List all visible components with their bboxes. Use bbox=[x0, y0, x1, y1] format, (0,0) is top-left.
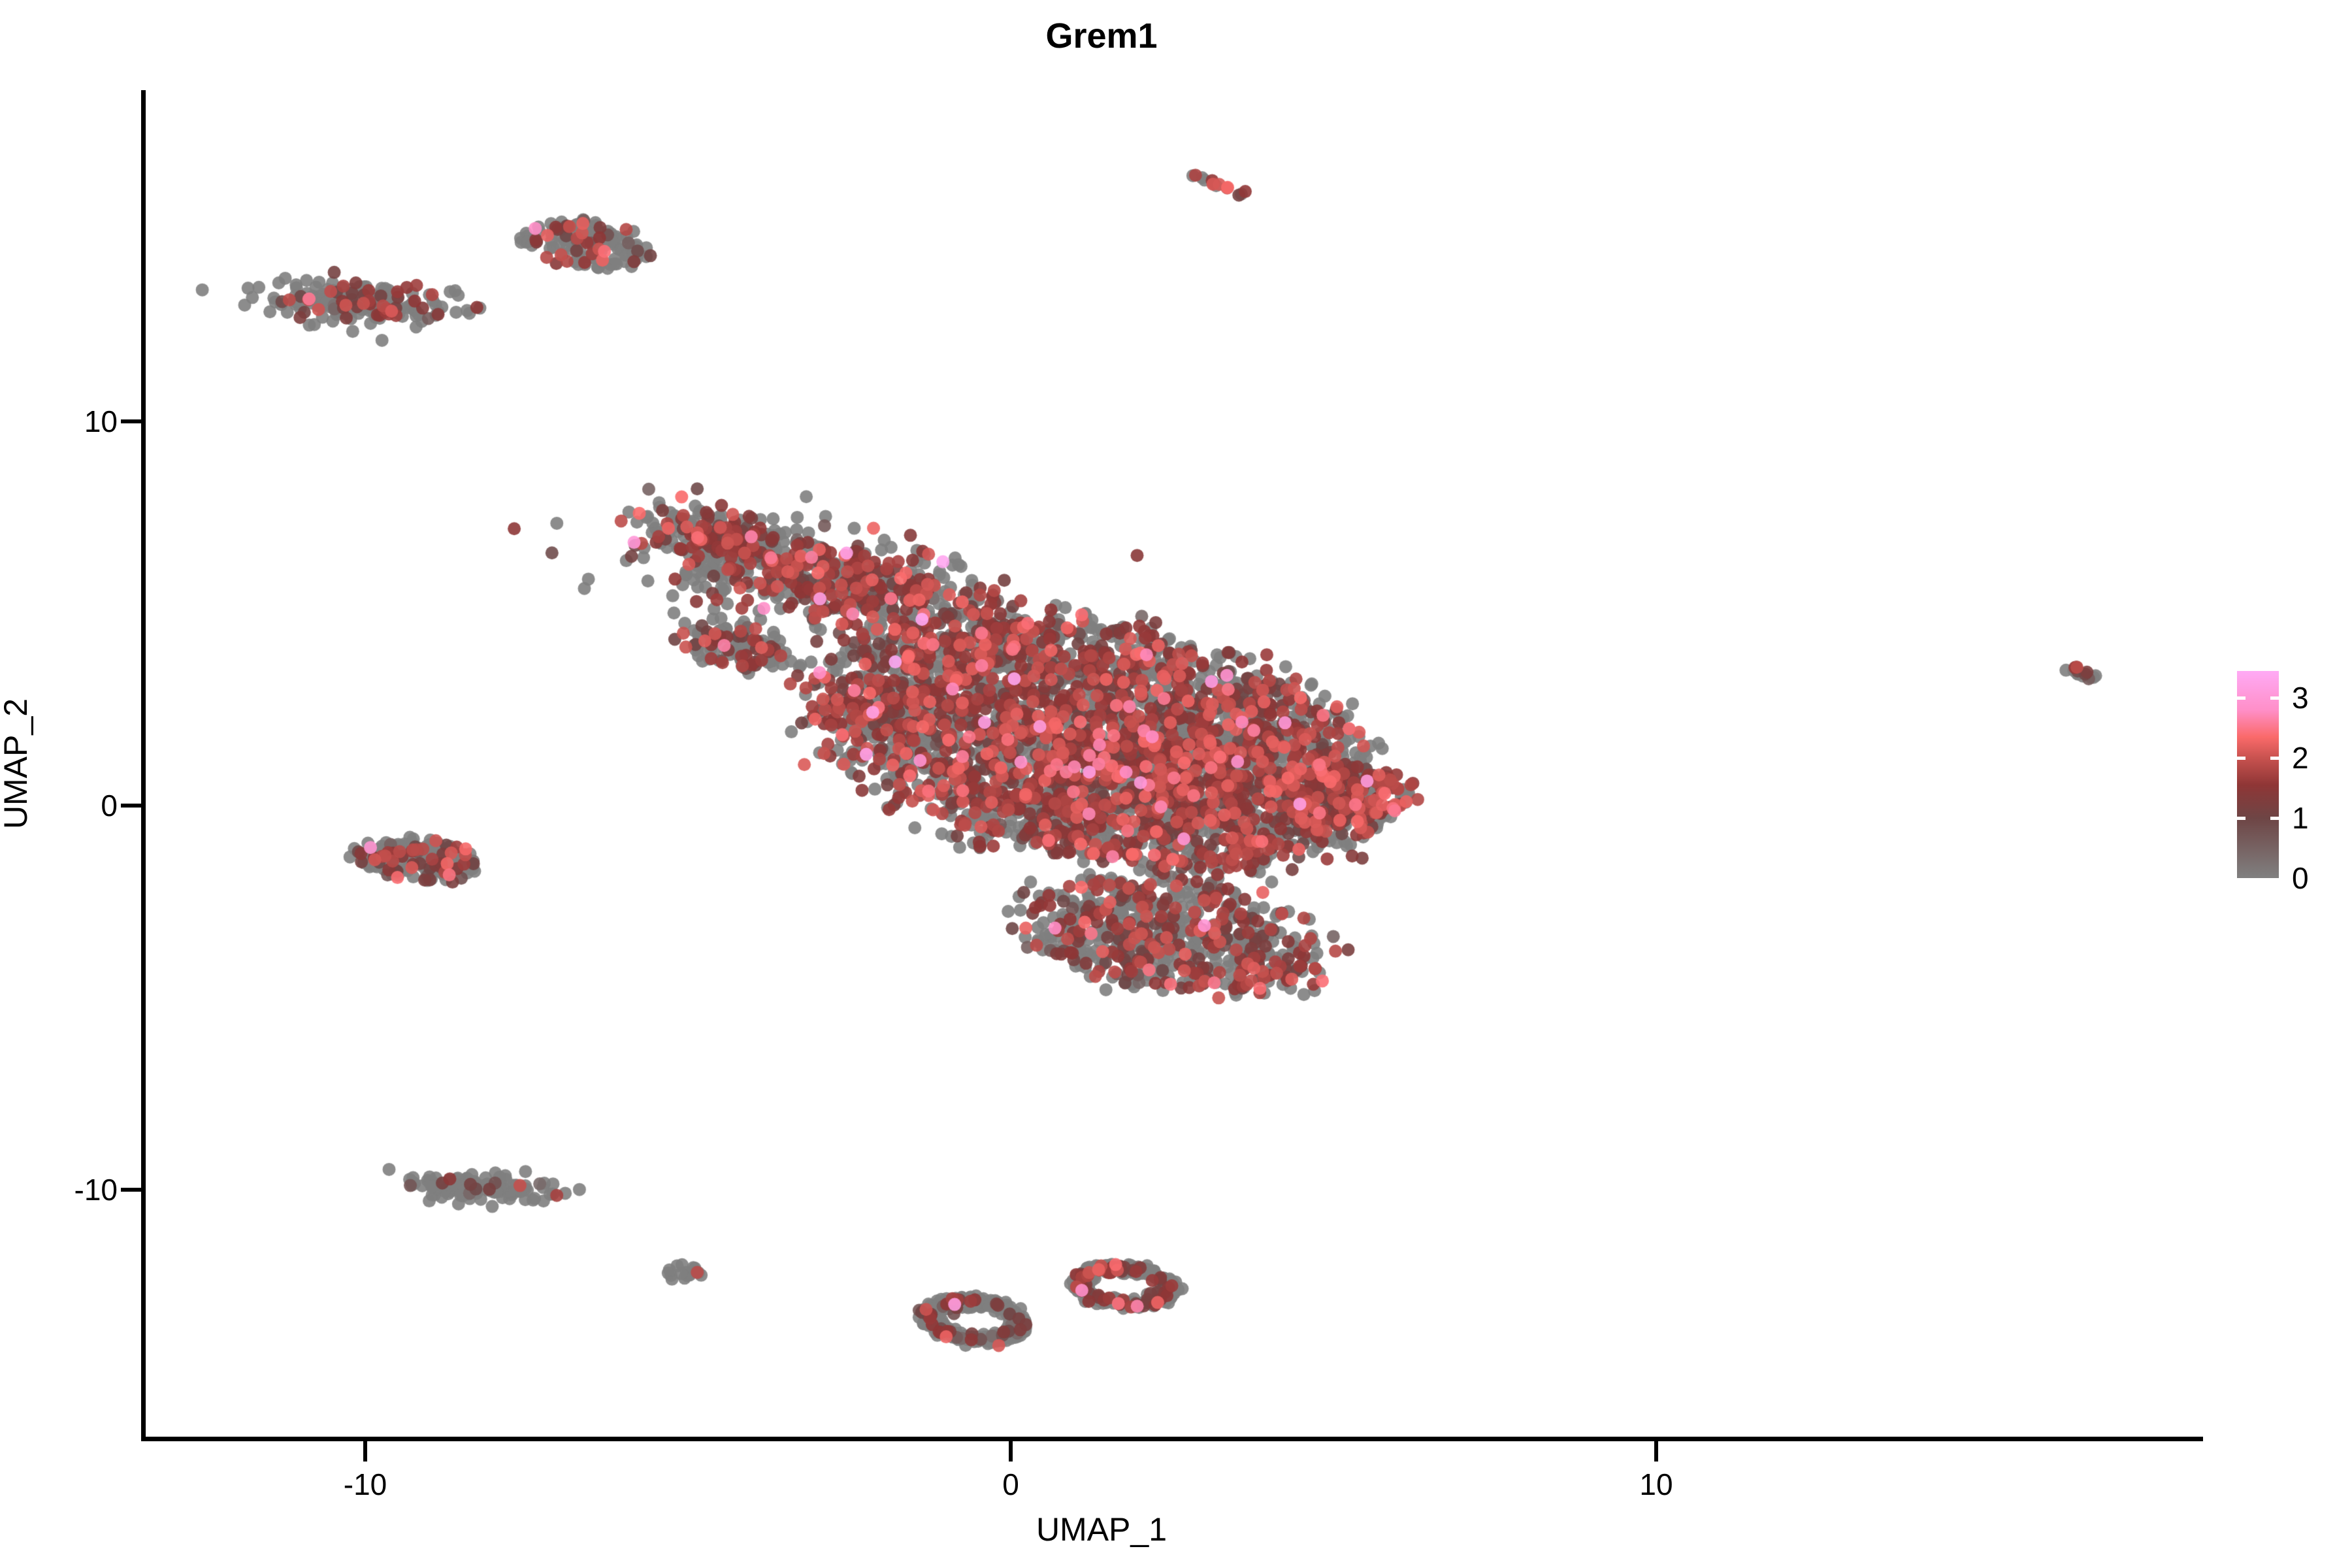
colorbar-tick-mark bbox=[2237, 696, 2246, 700]
x-axis-line bbox=[141, 1437, 2203, 1441]
y-tick-label: 10 bbox=[84, 404, 118, 439]
colorbar-tick-mark bbox=[2270, 757, 2279, 760]
y-tick-label: 0 bbox=[101, 788, 118, 823]
x-tick-mark bbox=[1654, 1441, 1658, 1462]
colorbar-legend: 0123 bbox=[2237, 671, 2335, 906]
x-tick-mark bbox=[363, 1441, 367, 1462]
y-axis-line bbox=[141, 90, 146, 1441]
colorbar-tick-mark bbox=[2237, 757, 2246, 760]
colorbar-tick-label: 2 bbox=[2292, 740, 2309, 776]
y-axis-title: UMAP_2 bbox=[0, 627, 35, 901]
colorbar-tick-label: 1 bbox=[2292, 800, 2309, 836]
x-axis-title: UMAP_1 bbox=[0, 1511, 2203, 1548]
x-tick-label: -10 bbox=[344, 1467, 387, 1502]
x-tick-mark bbox=[1009, 1441, 1013, 1462]
x-tick-label: 0 bbox=[1002, 1467, 1019, 1502]
colorbar-tick-label: 0 bbox=[2292, 860, 2309, 896]
y-tick-label: -10 bbox=[74, 1172, 118, 1207]
umap-feature-plot: Grem1 -10010 -10010 UMAP_1 UMAP_2 0123 bbox=[0, 0, 2352, 1568]
colorbar-tick-mark bbox=[2270, 696, 2279, 700]
scatter-points-canvas bbox=[146, 90, 2203, 1437]
colorbar-gradient bbox=[2237, 671, 2279, 878]
plot-panel bbox=[146, 90, 2203, 1437]
colorbar-tick-mark bbox=[2270, 817, 2279, 820]
colorbar-tick-label: 3 bbox=[2292, 680, 2309, 715]
page-title: Grem1 bbox=[0, 16, 2203, 56]
x-tick-label: 10 bbox=[1639, 1467, 1673, 1502]
colorbar-tick-mark bbox=[2237, 817, 2246, 820]
y-tick-mark bbox=[121, 419, 141, 423]
y-tick-mark bbox=[121, 1188, 141, 1192]
y-tick-mark bbox=[121, 804, 141, 808]
